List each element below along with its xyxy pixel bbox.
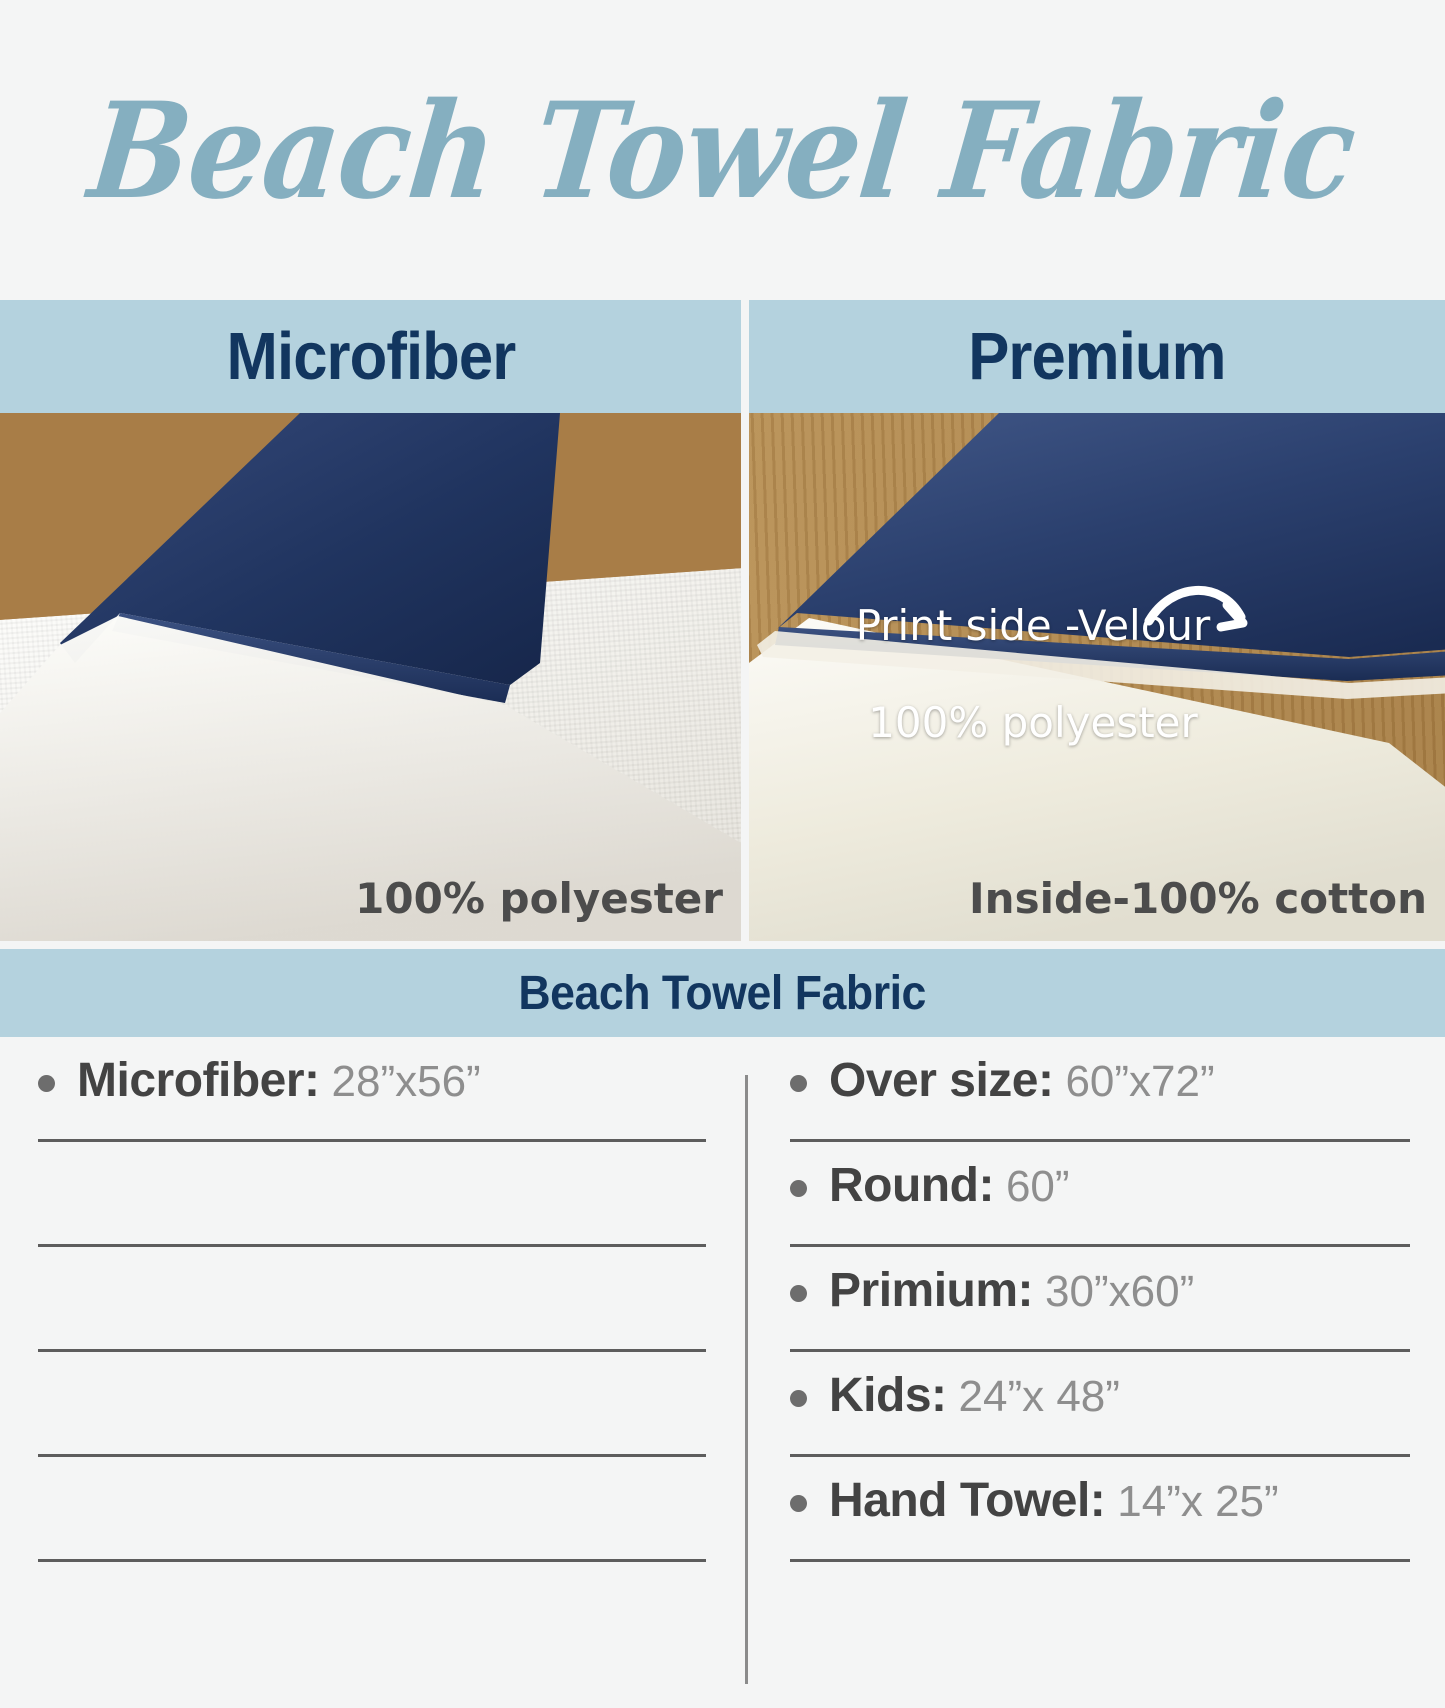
specs-vertical-divider [745,1075,748,1684]
spec-value: 28”x56” [332,1057,481,1107]
column-header-premium-label: Premium [968,318,1225,395]
bullet-icon [790,1495,807,1512]
list-item [38,1352,698,1457]
list-item [38,1247,698,1352]
navy-folded-corner-shape [0,413,741,941]
row-divider [38,1559,706,1562]
section-banner: Beach Towel Fabric [0,949,1445,1037]
bullet-icon [790,1075,807,1092]
spec-value: 60” [1006,1162,1070,1212]
bullet-icon [790,1285,807,1302]
page-title: Beach Towel Fabric [83,72,1362,228]
curved-arrow-down-right-icon [1141,565,1261,655]
list-item [38,1142,698,1247]
list-item: Round: 60” [790,1142,1410,1247]
microfiber-photo-caption: 100% polyester [355,874,723,923]
column-header-microfiber-label: Microfiber [226,318,515,395]
list-item: Over size: 60”x72” [790,1037,1410,1142]
bullet-icon [790,1180,807,1197]
spec-label: Microfiber: [77,1053,320,1108]
spec-label: Over size: [829,1053,1053,1108]
specs-section: Microfiber: 28”x56” Over size: 60”x72 [0,1037,1445,1692]
list-item: Primium: 30”x60” [790,1247,1410,1352]
spec-label: Primium: [829,1263,1033,1318]
spec-value: 60”x72” [1065,1057,1214,1107]
spec-label: Round: [829,1158,994,1213]
print-side-velour-line2: 100% polyester [783,699,1283,748]
row-divider [790,1559,1410,1562]
specs-right-column: Over size: 60”x72” Round: 60” Primium: [790,1037,1410,1562]
section-banner-label: Beach Towel Fabric [519,966,927,1021]
column-header-microfiber: Microfiber [0,300,741,413]
photo-row: 100% polyester [0,413,1445,941]
premium-photo-caption: Inside-100% cotton [969,874,1427,923]
spec-value: 24”x 48” [959,1372,1120,1422]
spec-label: Hand Towel: [829,1473,1105,1528]
bullet-icon [790,1390,807,1407]
page-title-area: Beach Towel Fabric [0,0,1445,300]
premium-towel-photo: Print side -Velour 100% polyester Inside… [749,413,1445,941]
list-item [38,1457,698,1562]
list-item: Hand Towel: 14”x 25” [790,1457,1410,1562]
specs-left-column: Microfiber: 28”x56” [38,1037,698,1562]
spec-value: 30”x60” [1045,1267,1194,1317]
column-header-row: Microfiber Premium [0,300,1445,413]
list-item: Kids: 24”x 48” [790,1352,1410,1457]
microfiber-towel-photo: 100% polyester [0,413,741,941]
column-header-premium: Premium [749,300,1445,413]
bullet-icon [38,1075,55,1092]
list-item: Microfiber: 28”x56” [38,1037,698,1142]
spec-value: 14”x 25” [1117,1477,1278,1527]
spec-label: Kids: [829,1368,947,1423]
